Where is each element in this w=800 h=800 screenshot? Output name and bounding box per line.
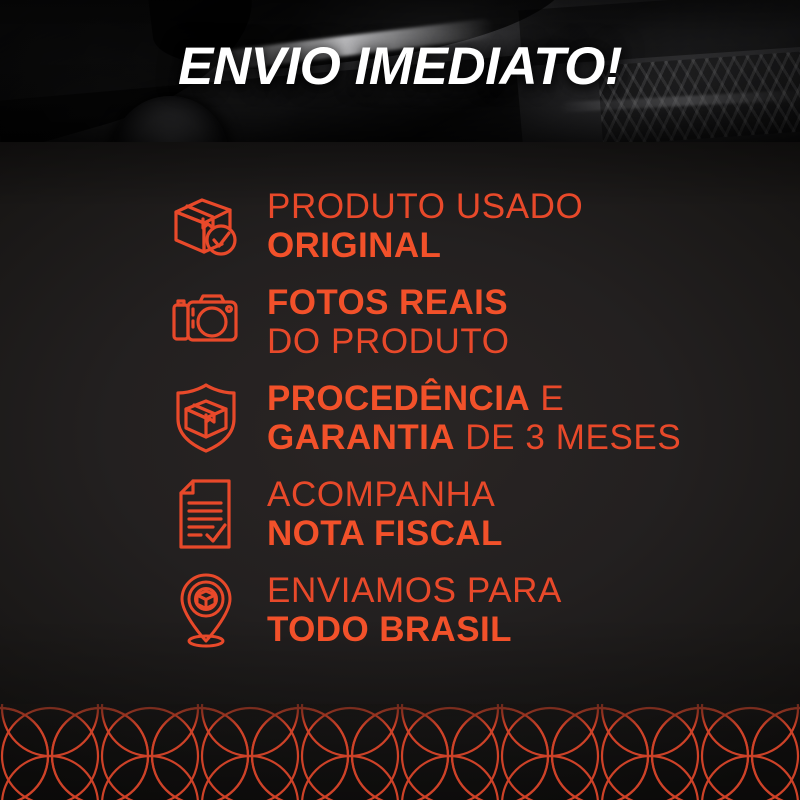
feature-line-1-bold: FOTOS REAIS [267, 283, 508, 322]
feature-text: ACOMPANHA NOTA FISCAL [267, 477, 503, 551]
header-title: ENVIO IMEDIATO! [0, 40, 800, 93]
feature-row: PROCEDÊNCIA E GARANTIA DE 3 MESES [0, 370, 800, 466]
feature-line-1: ENVIAMOS PARA [267, 573, 562, 608]
feature-line-1: PROCEDÊNCIA E [267, 381, 681, 416]
feature-line-2-bold: GARANTIA [267, 418, 455, 457]
feature-text: PROCEDÊNCIA E GARANTIA DE 3 MESES [267, 381, 681, 455]
feature-line-2-light: DO PRODUTO [267, 322, 510, 361]
feature-line-1-light: PRODUTO USADO [267, 187, 583, 226]
feature-list: PRODUTO USADO ORIGINAL FOTOS REAIS [0, 178, 800, 658]
map-pin-box-icon [163, 571, 249, 649]
box-check-icon [163, 192, 249, 260]
feature-line-2: NOTA FISCAL [267, 516, 503, 551]
feature-text: FOTOS REAIS DO PRODUTO [267, 285, 510, 359]
feature-line-2: TODO BRASIL [267, 612, 562, 647]
feature-row: FOTOS REAIS DO PRODUTO [0, 274, 800, 370]
shield-box-icon [163, 381, 249, 455]
camera-icon [163, 291, 249, 353]
invoice-document-icon [163, 477, 249, 551]
feature-line-1: FOTOS REAIS [267, 285, 510, 320]
feature-line-2: GARANTIA DE 3 MESES [267, 420, 681, 455]
feature-line-2-light: DE 3 MESES [455, 418, 681, 457]
feature-row: PRODUTO USADO ORIGINAL [0, 178, 800, 274]
feature-line-2: DO PRODUTO [267, 324, 510, 359]
feature-row: ENVIAMOS PARA TODO BRASIL [0, 562, 800, 658]
feature-text: ENVIAMOS PARA TODO BRASIL [267, 573, 562, 647]
feature-line-2: ORIGINAL [267, 228, 583, 263]
feature-line-1: ACOMPANHA [267, 477, 503, 512]
feature-line-1-light: E [530, 379, 564, 418]
feature-line-1: PRODUTO USADO [267, 189, 583, 224]
feature-line-2-bold: TODO BRASIL [267, 610, 512, 649]
feature-line-2-bold: ORIGINAL [267, 226, 441, 265]
feature-row: ACOMPANHA NOTA FISCAL [0, 466, 800, 562]
footer-pattern [0, 704, 800, 800]
feature-text: PRODUTO USADO ORIGINAL [267, 189, 583, 263]
promotional-banner: ENVIO IMEDIATO! PRODUTO USADO OR [0, 0, 800, 800]
feature-line-1-light: ACOMPANHA [267, 475, 495, 514]
banner-header: ENVIO IMEDIATO! [0, 0, 800, 147]
feature-line-1-light: ENVIAMOS PARA [267, 571, 562, 610]
feature-line-2-bold: NOTA FISCAL [267, 514, 503, 553]
feature-line-1-bold: PROCEDÊNCIA [267, 379, 530, 418]
